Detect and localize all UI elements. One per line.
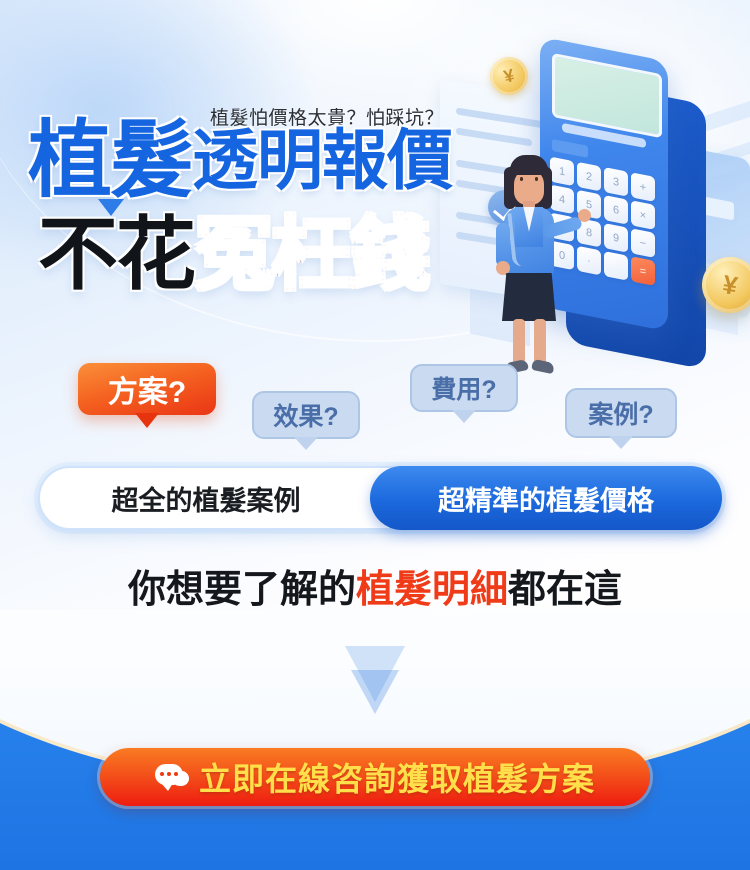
- calculator-key: 2: [577, 162, 601, 192]
- calculator-key: 3: [604, 167, 628, 197]
- headline-line2-dark: 不花: [38, 210, 194, 299]
- bubble-case[interactable]: 案例?: [565, 388, 677, 438]
- leg: [534, 319, 546, 365]
- hand-right: [578, 209, 591, 222]
- headline-line2-warm: 冤枉錢: [194, 210, 428, 299]
- hero-illustration: 1 2 3 + 4 5 6 × 7 8 9 − 0 · =: [430, 35, 750, 380]
- woman-character: [482, 157, 574, 377]
- calculator-key: [604, 251, 628, 281]
- pill-cases-label[interactable]: 超全的植髮案例: [40, 479, 372, 518]
- calculator-key: ·: [577, 246, 601, 276]
- yen-symbol: ¥: [698, 253, 750, 318]
- shoe: [531, 359, 555, 374]
- hair-front: [510, 155, 548, 175]
- eye: [520, 177, 523, 181]
- calculator-key: −: [631, 228, 655, 258]
- cta-label: 立即在線咨詢獲取植髮方案: [199, 754, 595, 800]
- bag-strap: [507, 209, 556, 267]
- chat-dots: [160, 772, 178, 776]
- headline-rest: 透明報價: [192, 123, 452, 197]
- headline-line-2: 不花冤枉錢: [38, 215, 428, 295]
- calculator-key: +: [631, 172, 655, 202]
- calculator-top-key: [552, 139, 588, 158]
- calculator-key-equals: =: [631, 256, 655, 286]
- headline-line-1: 植髮透明報價: [28, 118, 452, 202]
- sub-headline-highlight: 植髮明細: [356, 569, 508, 611]
- chevron-down-icon-inner: [351, 670, 399, 714]
- sub-headline-prefix: 你想要了解的: [128, 569, 356, 611]
- calculator-key: 9: [604, 223, 628, 253]
- skirt: [502, 273, 556, 321]
- bottom-blue-section: [0, 610, 750, 870]
- bubble-plan[interactable]: 方案?: [78, 363, 216, 415]
- cta-button[interactable]: 立即在線咨詢獲取植髮方案: [100, 748, 650, 806]
- sub-headline: 你想要了解的植髮明細都在這: [0, 558, 750, 613]
- bubble-cost[interactable]: 費用?: [410, 364, 518, 412]
- sub-headline-suffix: 都在這: [508, 569, 622, 611]
- pill-price-label[interactable]: 超精準的植髮價格: [370, 466, 722, 530]
- calculator-key: 6: [604, 195, 628, 225]
- calculator-key: ×: [631, 200, 655, 230]
- chat-bubble-icon: [155, 764, 189, 791]
- bubble-effect[interactable]: 效果?: [252, 391, 360, 439]
- hand-left: [496, 261, 510, 275]
- promo-poster: 1 2 3 + 4 5 6 × 7 8 9 − 0 · =: [0, 0, 750, 870]
- leg: [513, 319, 525, 365]
- headline-emphasis: 植髮: [28, 113, 192, 207]
- eye: [535, 177, 538, 181]
- feature-pill-group: 超全的植髮案例 超精準的植髮價格: [38, 466, 722, 530]
- coin-icon: ¥: [698, 253, 750, 318]
